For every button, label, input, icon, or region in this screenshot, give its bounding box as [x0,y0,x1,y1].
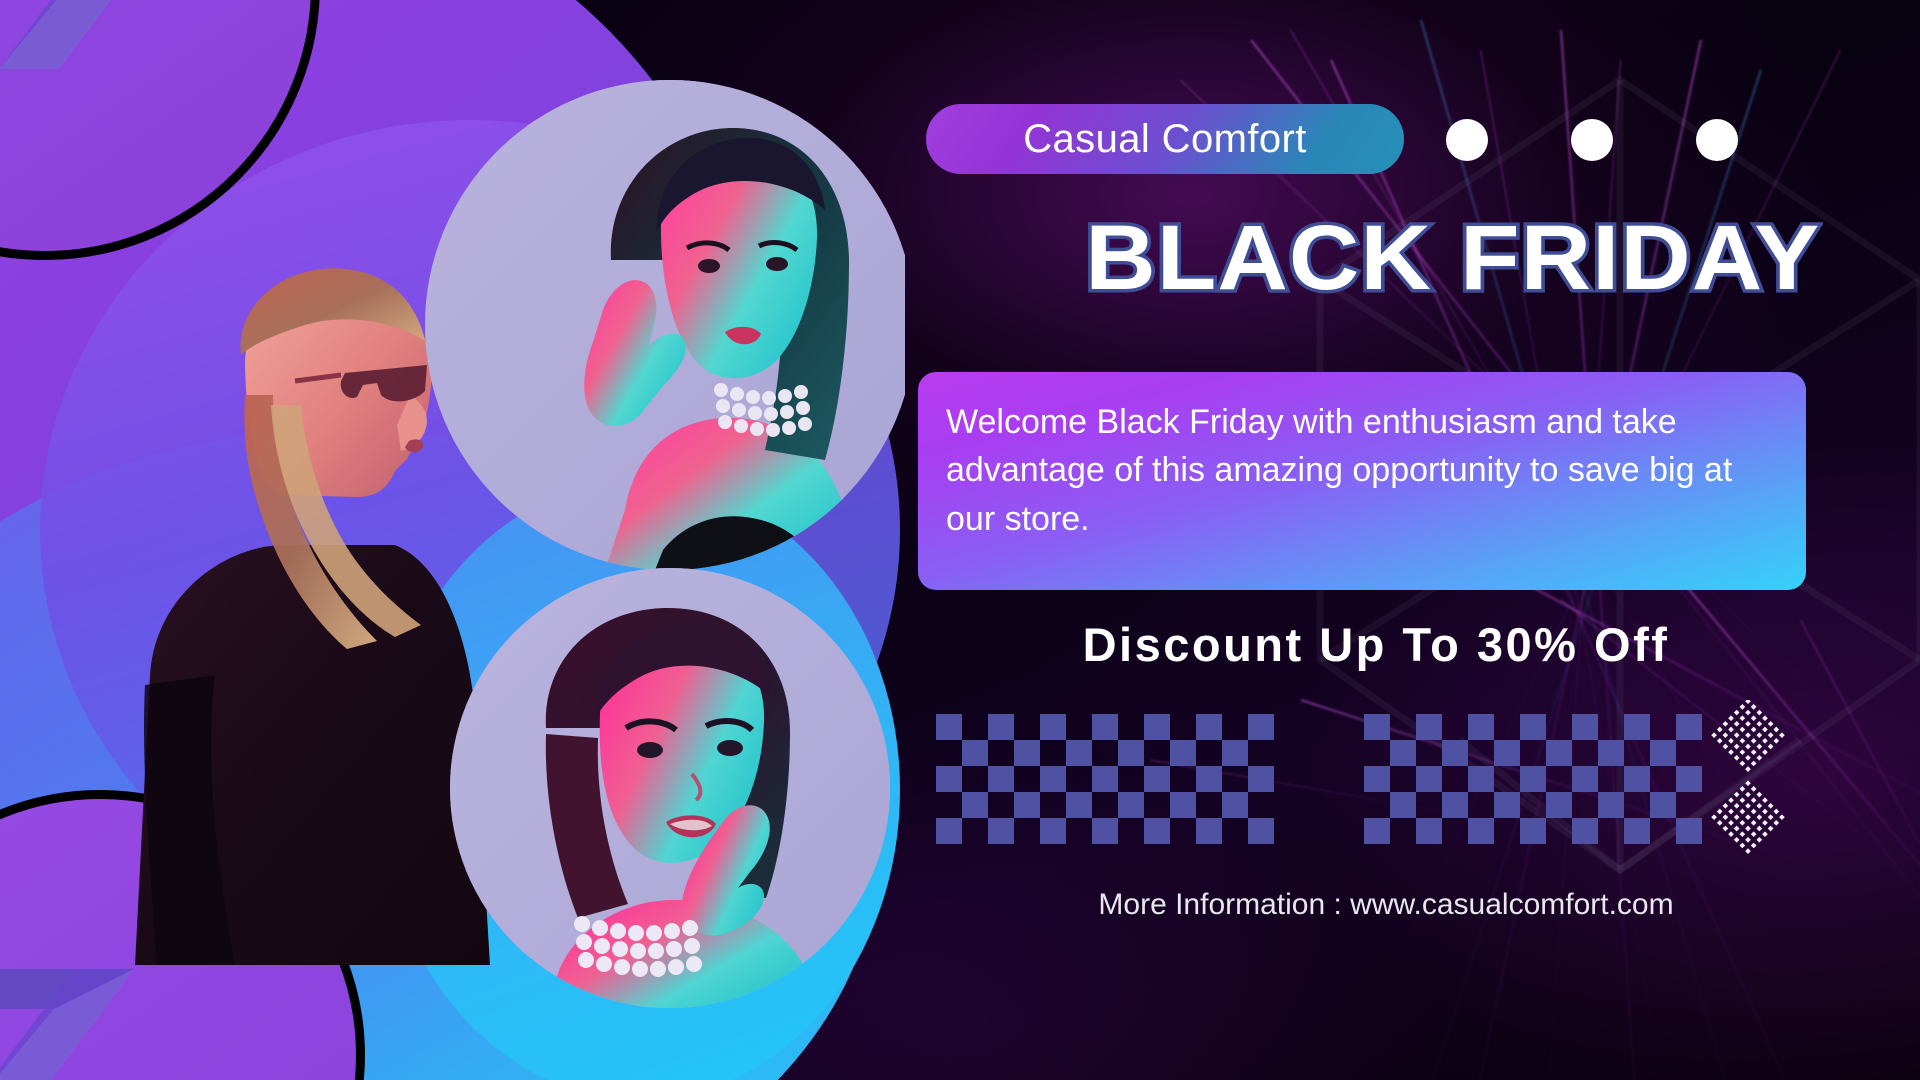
decorative-dots-row [1446,119,1738,161]
model-portrait-neon-two-photo [450,568,890,1008]
discount-headline: Discount Up To 30% Off [926,617,1826,672]
checkerboard-decoration [936,714,1694,839]
black-friday-promo-banner: Casual Comfort BLACK FRIDAY Welcome Blac… [0,0,1920,1080]
model-portrait-neon-one-photo [425,80,905,570]
promo-content-panel: Casual Comfort BLACK FRIDAY Welcome Blac… [926,0,1920,1080]
impossible-triangle-icon [0,0,269,260]
description-text: Welcome Black Friday with enthusiasm and… [946,398,1778,543]
checkerboard-block [1364,714,1694,839]
decorative-dot-icon [1696,119,1738,161]
checkerboard-block [936,714,1266,839]
description-card: Welcome Black Friday with enthusiasm and… [918,372,1806,590]
decorative-dot-icon [1446,119,1488,161]
brand-name-label: Casual Comfort [1023,117,1306,162]
page-title: BLACK FRIDAY [926,212,1920,304]
more-information-text: More Information : www.casualcomfort.com [926,888,1846,922]
decorative-dot-icon [1571,119,1613,161]
dotted-diamond-decoration [1696,700,1801,860]
left-collage-artwork [0,0,905,1080]
brand-name-pill: Casual Comfort [926,104,1404,174]
